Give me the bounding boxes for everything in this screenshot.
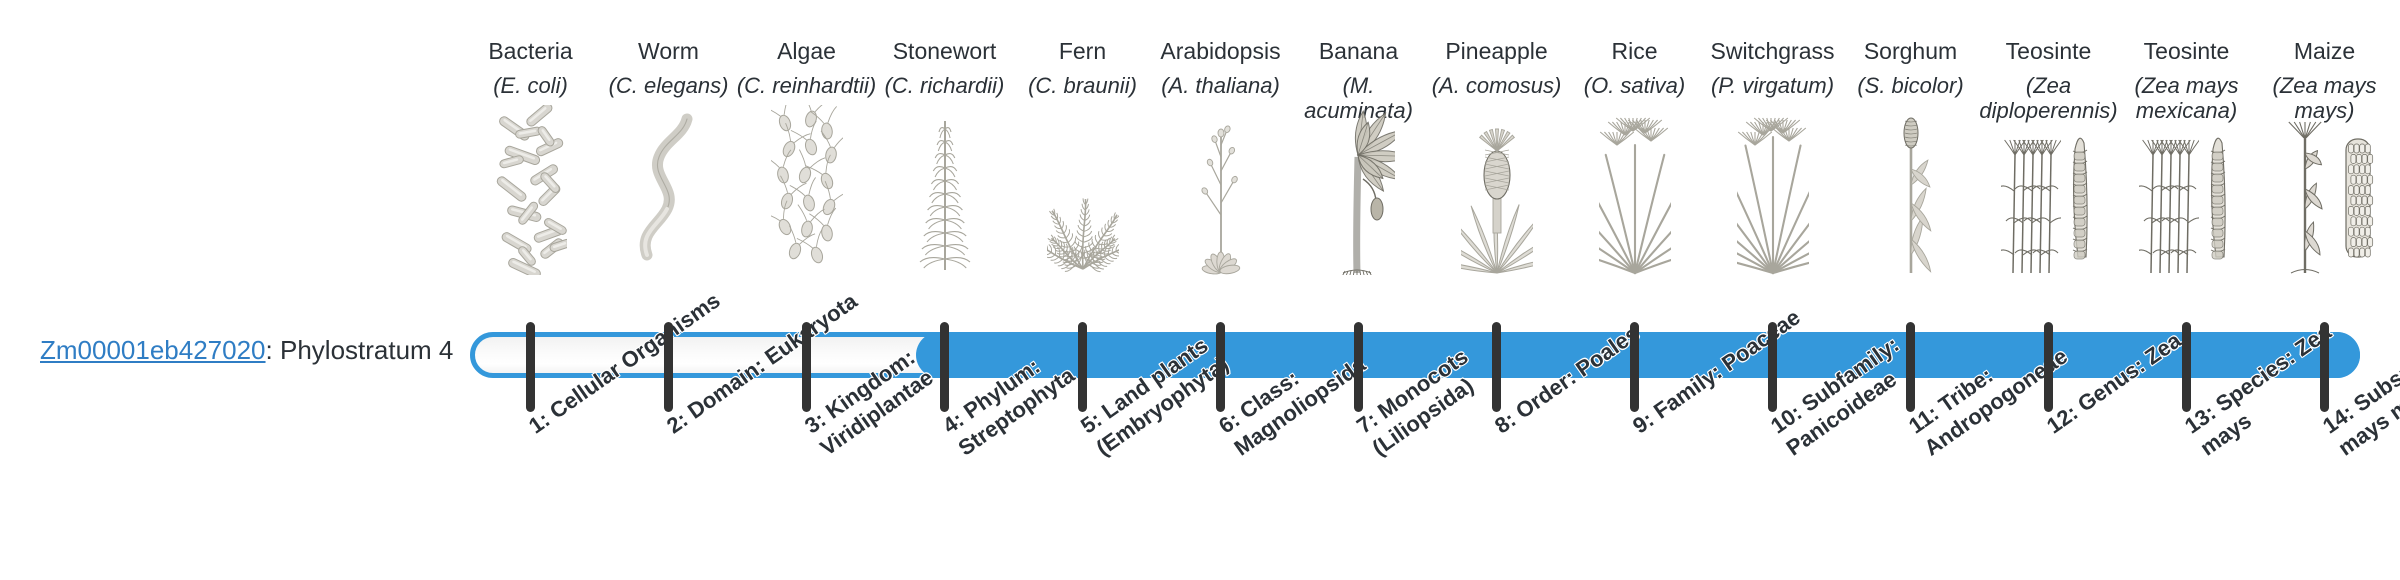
rank-name: Order: Poales [1511,321,1644,424]
phylostratum-tick-6[interactable] [1216,322,1225,412]
phylostratum-rank-label-10: 10: Subfamily: Panicoideae [1766,286,1985,462]
rank-name: Class: Magnoliopsida [1229,352,1369,461]
phylostratum-tick-2[interactable] [664,322,673,412]
rank-name: Domain: Eukaryota [683,288,862,423]
phylostratum-rank-label-2: 2: Domain: Eukaryota [662,286,866,440]
phylostratum-value: Phylostratum 4 [280,335,453,365]
phylostratum-tick-layer: 1: Cellular Organisms2: Domain: Eukaryot… [470,0,2360,580]
phylostratum-rank-label-8: 8: Order: Poales [1490,286,1694,440]
phylostratum-tick-12[interactable] [2044,322,2053,412]
phylostratum-timeline-widget: Zm00001eb427020: Phylostratum 4 Bacteria… [0,0,2400,580]
rank-name: Species: Zea mays [2195,319,2335,460]
gene-phylostratum-label: Zm00001eb427020: Phylostratum 4 [40,336,450,365]
phylostratum-tick-10[interactable] [1768,322,1777,412]
rank-name: Cellular Organisms [545,288,725,424]
rank-name: Subspecies: Zea mays mays [2333,297,2400,461]
phylostratum-tick-4[interactable] [940,322,949,412]
phylostratum-tick-8[interactable] [1492,322,1501,412]
rank-name: Subfamily: Panicoideae [1781,332,1903,461]
phylostratum-rank-label-5: 5: Land plants (Embryophyta) [1076,286,1295,462]
rank-name: Genus: Zea [2073,328,2185,417]
phylostratum-tick-5[interactable] [1078,322,1087,412]
rank-name: Family: Poaceae [1649,304,1805,423]
phylostratum-tick-7[interactable] [1354,322,1363,412]
phylostratum-rank-label-9: 9: Family: Poaceae [1628,286,1832,440]
gene-label-separator: : [266,335,280,365]
phylostratum-rank-label-3: 3: Kingdom: Viridiplantae [800,286,1019,462]
phylostratum-tick-1[interactable] [526,322,535,412]
phylostratum-tick-11[interactable] [1906,322,1915,412]
phylostratum-rank-label-4: 4: Phylum: Streptophyta [938,286,1157,462]
phylostratum-rank-label-7: 7: Monocots (Liliopsida) [1352,286,1571,462]
gene-id-link[interactable]: Zm00001eb427020 [40,335,266,365]
phylostratum-tick-14[interactable] [2320,322,2329,412]
rank-name: Kingdom: Viridiplantae [815,344,937,460]
phylostratum-rank-label-1: 1: Cellular Organisms [524,286,728,440]
phylostratum-rank-label-11: 11: Tribe: Andropogoneae [1904,286,2123,462]
rank-name: Land plants (Embryophyta) [1091,332,1233,460]
phylostratum-rank-label-6: 6: Class: Magnoliopsida [1214,286,1433,462]
phylostratum-tick-13[interactable] [2182,322,2191,412]
rank-name: Phylum: Streptophyta [953,353,1078,460]
phylostratum-rank-label-12: 12: Genus: Zea [2042,286,2246,440]
phylostratum-tick-9[interactable] [1630,322,1639,412]
phylostratum-tick-3[interactable] [802,322,811,412]
rank-name: Monocots (Liliopsida) [1367,344,1477,461]
